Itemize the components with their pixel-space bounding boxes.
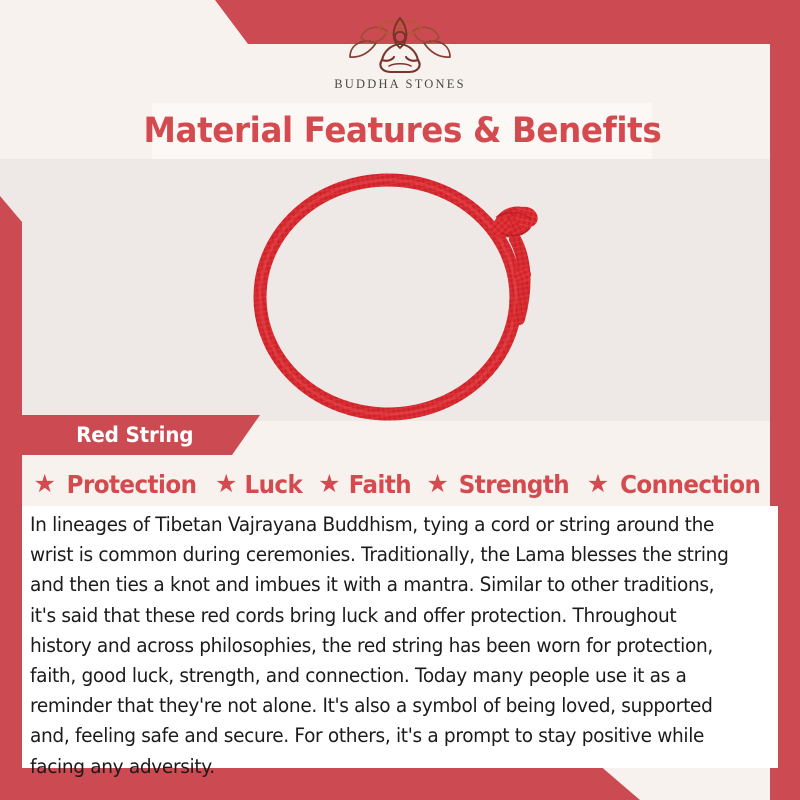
product-name-ribbon: Red String — [0, 415, 260, 455]
star-icon: ★ — [318, 472, 340, 497]
feature-item-connection: ★ Connection — [587, 470, 767, 499]
feature-item-faith: ★ Faith — [318, 470, 413, 499]
product-name-label: Red String — [76, 423, 193, 447]
feature-item-protection: ★ Protection — [33, 470, 201, 499]
feature-label: Strength — [459, 470, 569, 499]
description-card: In lineages of Tibetan Vajrayana Buddhis… — [22, 506, 778, 768]
title-banner: Material Features & Benefits — [152, 103, 652, 159]
star-icon: ★ — [215, 472, 237, 497]
feature-label: Connection — [620, 470, 760, 499]
red-braided-string-bracelet-image — [230, 167, 580, 429]
feature-item-strength: ★ Strength — [426, 470, 573, 499]
description-text: In lineages of Tibetan Vajrayana Buddhis… — [30, 510, 733, 782]
feature-list: ★ Protection ★ Luck ★ Faith ★ Strength ★… — [0, 463, 800, 505]
star-icon: ★ — [33, 472, 55, 497]
infographic-page: BUDDHA STONES Material Features & Benefi… — [0, 0, 800, 800]
brand-wordmark: BUDDHA STONES — [334, 77, 466, 92]
brand-header: BUDDHA STONES — [0, 0, 800, 104]
star-icon: ★ — [587, 472, 609, 497]
feature-label: Luck — [245, 470, 303, 499]
lotus-meditation-icon — [334, 14, 466, 76]
feature-item-luck: ★ Luck — [215, 470, 305, 499]
star-icon: ★ — [426, 472, 448, 497]
product-photo-area — [0, 159, 800, 421]
page-title: Material Features & Benefits — [143, 111, 661, 151]
feature-label: Protection — [67, 470, 197, 499]
feature-label: Faith — [348, 470, 410, 499]
